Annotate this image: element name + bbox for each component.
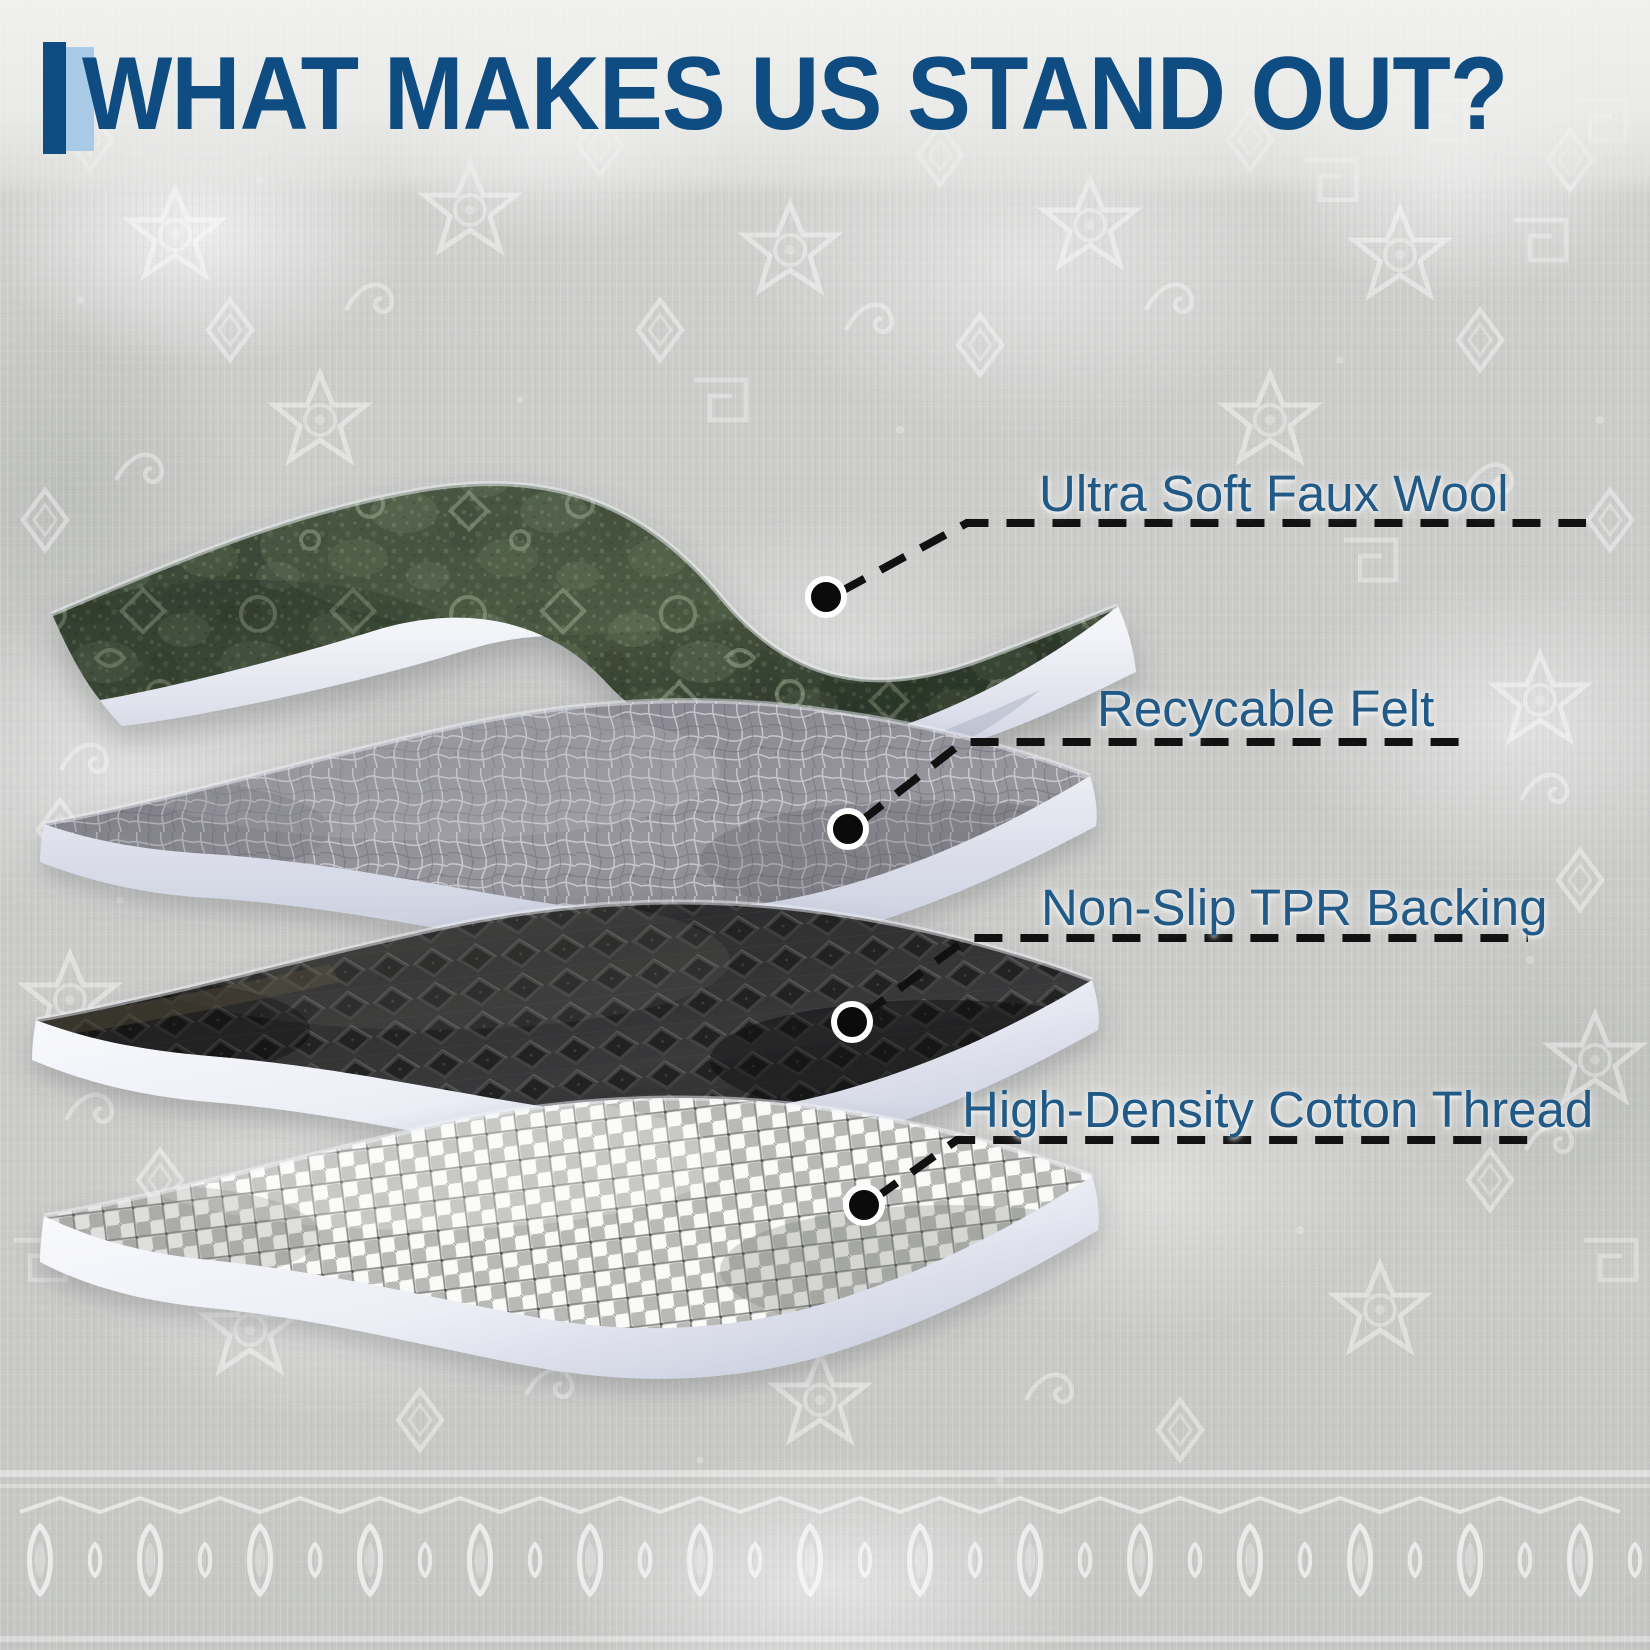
callout-label-tpr-backing: Non-Slip TPR Backing <box>1041 880 1547 936</box>
callout-label-recycable-felt: Recycable Felt <box>1097 681 1434 737</box>
layer-stack-diagram <box>0 0 1650 1650</box>
callout-label-faux-wool: Ultra Soft Faux Wool <box>1039 466 1509 522</box>
infographic-canvas: WHAT MAKES US STAND OUT? <box>0 0 1650 1650</box>
callout-label-cotton-thread: High-Density Cotton Thread <box>962 1082 1593 1138</box>
